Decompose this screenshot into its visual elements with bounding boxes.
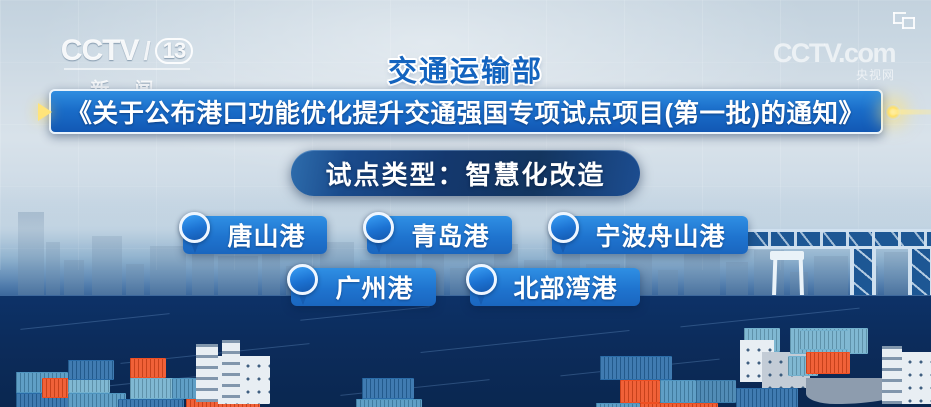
arrow-right-icon <box>38 103 52 121</box>
terminal-tower <box>196 344 218 402</box>
port-row-2: 广州港 北部湾港 <box>0 268 931 306</box>
port-name: 宁波舟山港 <box>596 217 726 253</box>
port-name: 北部湾港 <box>514 269 618 305</box>
terminal-building <box>902 352 931 404</box>
port-tag: 青岛港 <box>367 216 511 254</box>
category-row: 试点类型：智慧化改造 <box>0 150 931 196</box>
terminal-tower <box>222 340 240 402</box>
map-pin-icon <box>548 212 582 256</box>
document-title: 《关于公布港口功能优化提升交通强国专项试点项目(第一批)的通知》 <box>67 93 865 130</box>
map-pin-icon <box>287 264 321 308</box>
port-name: 广州港 <box>335 269 413 305</box>
port-list: 唐山港 青岛港 宁波舟山港 广州港 北部湾港 <box>0 216 931 306</box>
page-title: 交通运输部 <box>0 48 931 90</box>
port-name: 唐山港 <box>227 217 305 253</box>
map-pin-icon <box>179 212 213 256</box>
port-tag: 唐山港 <box>183 216 327 254</box>
category-label: 试点类型：智慧化改造 <box>325 155 605 192</box>
map-pin-icon <box>466 264 500 308</box>
port-name: 青岛港 <box>411 217 489 253</box>
spark-trail <box>891 109 931 114</box>
category-pill: 试点类型：智慧化改造 <box>291 150 639 196</box>
banner-row: 《关于公布港口功能优化提升交通强国专项试点项目(第一批)的通知》 <box>0 89 931 134</box>
document-title-banner: 《关于公布港口功能优化提升交通强国专项试点项目(第一批)的通知》 <box>49 89 883 134</box>
port-tag: 广州港 <box>291 268 435 306</box>
port-row-1: 唐山港 青岛港 宁波舟山港 <box>0 216 931 254</box>
broadcast-graphic-stage: CCTV / 13 新 闻 CCTV.com 央视网 交通运输部 《关于公布港口… <box>0 0 931 407</box>
port-tag: 宁波舟山港 <box>552 216 748 254</box>
terminal-tower <box>882 346 902 404</box>
window-corner-icon <box>893 12 915 29</box>
port-tag: 北部湾港 <box>470 268 640 306</box>
map-pin-icon <box>363 212 397 256</box>
